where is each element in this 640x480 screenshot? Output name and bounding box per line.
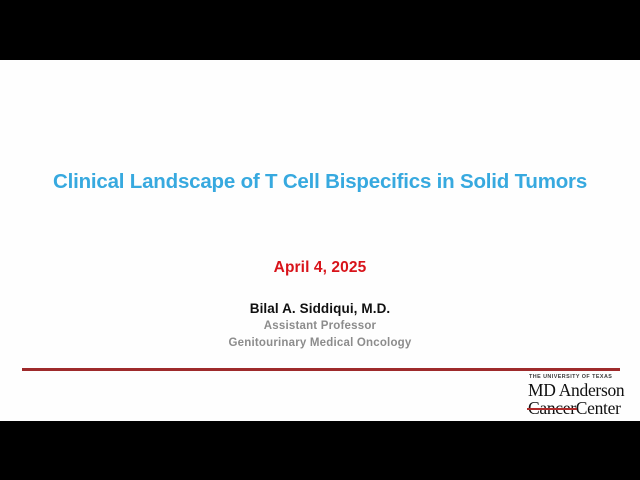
presenter-role: Assistant Professor — [0, 318, 640, 335]
presenter-department: Genitourinary Medical Oncology — [0, 335, 640, 352]
page-title: Clinical Landscape of T Cell Bispecifics… — [0, 170, 640, 194]
letterbox-bar-bottom — [0, 421, 640, 480]
letterbox-bar-top — [0, 0, 640, 60]
md-anderson-logo: THE UNIVERSITY OF TEXAS MD Anderson Canc… — [527, 373, 623, 417]
logo-struck-word: Cancer — [528, 399, 576, 417]
logo-second-line: CancerCenter — [527, 399, 623, 417]
logo-main-line: MD Anderson — [527, 381, 623, 399]
presentation-slide: Clinical Landscape of T Cell Bispecifics… — [0, 60, 640, 421]
logo-center-word: Center — [576, 398, 621, 418]
horizontal-divider-rule — [22, 368, 620, 371]
presentation-date: April 4, 2025 — [0, 259, 640, 277]
presenter-block: Bilal A. Siddiqui, M.D. Assistant Profes… — [0, 300, 640, 352]
video-player-viewport: Clinical Landscape of T Cell Bispecifics… — [0, 0, 640, 480]
presenter-name: Bilal A. Siddiqui, M.D. — [0, 300, 640, 318]
